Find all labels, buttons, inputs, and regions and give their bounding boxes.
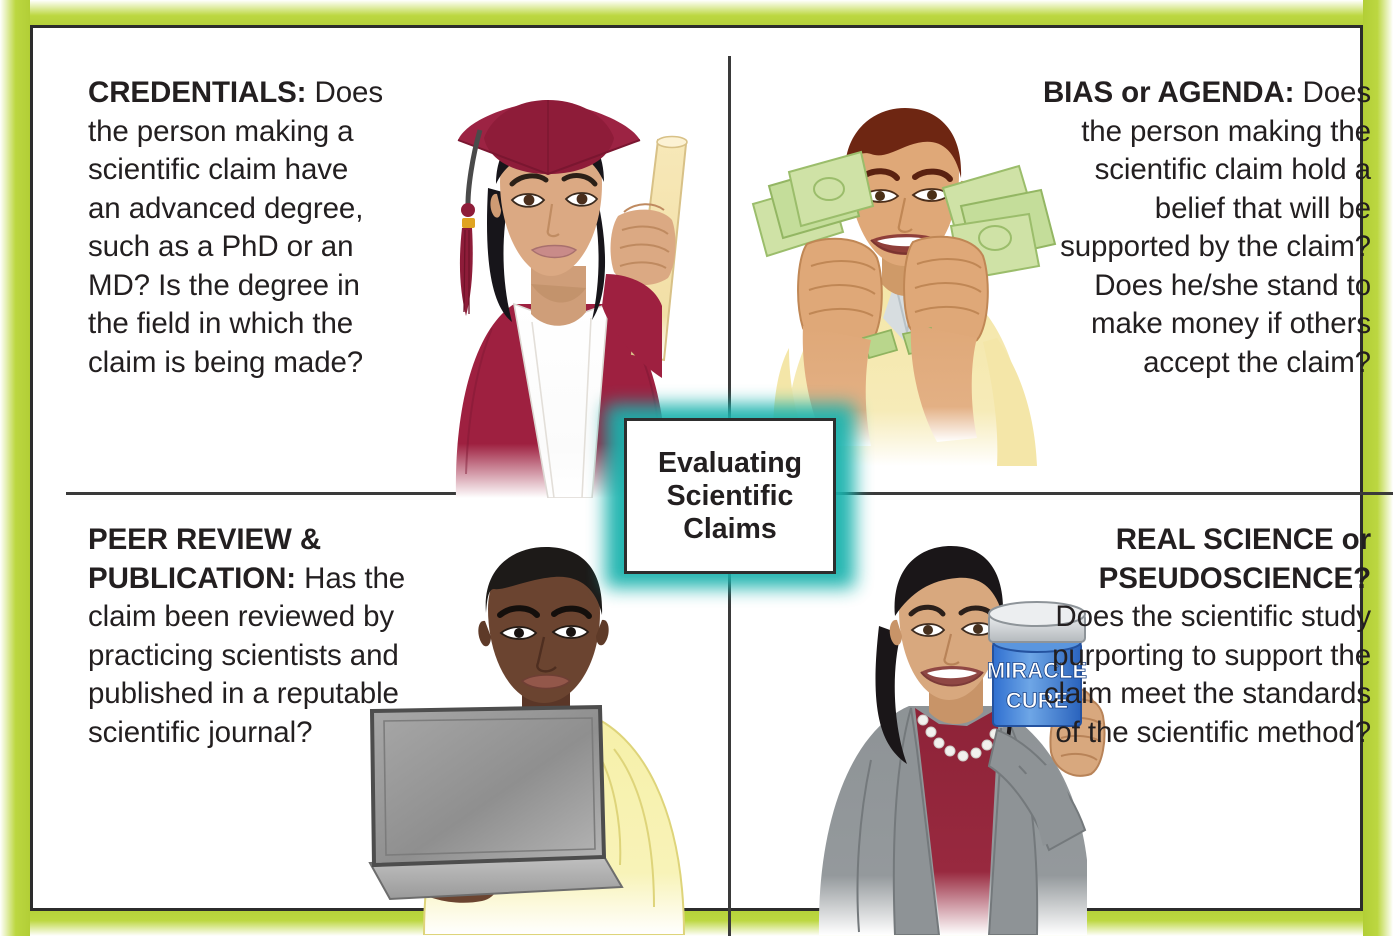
credentials-copy: CREDENTIALS: Does the person making a sc…	[88, 74, 388, 382]
bias-body: Does the person making the scientific cl…	[1060, 76, 1371, 379]
diagram-card: CREDENTIALS: Does the person making a sc…	[30, 25, 1363, 911]
pseudoscience-heading: REAL SCIENCE or PSEUDOSCIENCE?	[1099, 523, 1371, 595]
credentials-heading: CREDENTIALS:	[88, 76, 306, 109]
center-title-box: EvaluatingScientificClaims	[605, 404, 855, 588]
laptop-man-illustration	[366, 535, 716, 935]
frame-edge-left	[0, 0, 30, 936]
credentials-body: Does the person making a scientific clai…	[88, 76, 383, 379]
diagram-page: CREDENTIALS: Does the person making a sc…	[0, 0, 1393, 936]
pseudoscience-copy: REAL SCIENCE or PSEUDOSCIENCE? Does the …	[1031, 521, 1371, 752]
center-box-title: EvaluatingScientificClaims	[658, 447, 802, 546]
bias-heading: BIAS or AGENDA:	[1043, 76, 1294, 109]
center-box-frame: EvaluatingScientificClaims	[624, 418, 836, 574]
bias-copy: BIAS or AGENDA: Does the person making t…	[1026, 74, 1371, 382]
pseudoscience-body: Does the scientific study purporting to …	[1044, 600, 1371, 749]
peer-review-copy: PEER REVIEW & PUBLICATION: Has the claim…	[88, 521, 406, 752]
peer-review-heading: PEER REVIEW & PUBLICATION:	[88, 523, 321, 595]
